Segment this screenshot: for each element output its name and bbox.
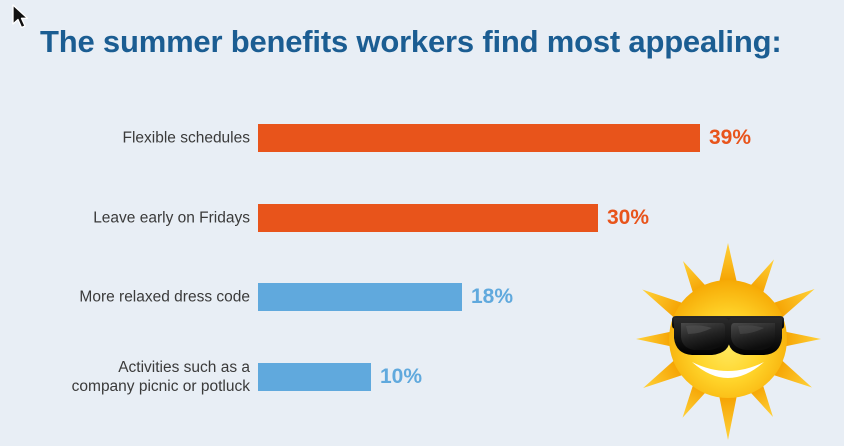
bar-track: 10% xyxy=(258,363,371,391)
mouse-cursor-icon xyxy=(12,4,32,32)
bar-rect[interactable] xyxy=(258,124,700,152)
bar-row: More relaxed dress code 18% xyxy=(0,283,844,311)
bar-category-label: Activities such as a company picnic or p… xyxy=(0,358,250,396)
bar-rect[interactable] xyxy=(258,283,462,311)
bar-track: 18% xyxy=(258,283,462,311)
bar-row: Leave early on Fridays 30% xyxy=(0,204,844,232)
bar-rect[interactable] xyxy=(258,204,598,232)
bar-value-label: 10% xyxy=(380,365,422,389)
bar-chart: Flexible schedules 39% Leave early on Fr… xyxy=(0,104,844,434)
slide-canvas: The summer benefits workers find most ap… xyxy=(0,0,844,446)
bar-value-label: 39% xyxy=(709,126,751,150)
bar-value-label: 18% xyxy=(471,285,513,309)
page-title: The summer benefits workers find most ap… xyxy=(40,22,781,62)
bar-value-label: 30% xyxy=(607,206,649,230)
bar-row: Activities such as a company picnic or p… xyxy=(0,363,844,391)
bar-row: Flexible schedules 39% xyxy=(0,124,844,152)
bar-track: 30% xyxy=(258,204,598,232)
bar-category-label: Leave early on Fridays xyxy=(0,209,250,228)
bar-rect[interactable] xyxy=(258,363,371,391)
bar-category-label: Flexible schedules xyxy=(0,129,250,148)
bar-track: 39% xyxy=(258,124,700,152)
bar-category-label: More relaxed dress code xyxy=(0,288,250,307)
